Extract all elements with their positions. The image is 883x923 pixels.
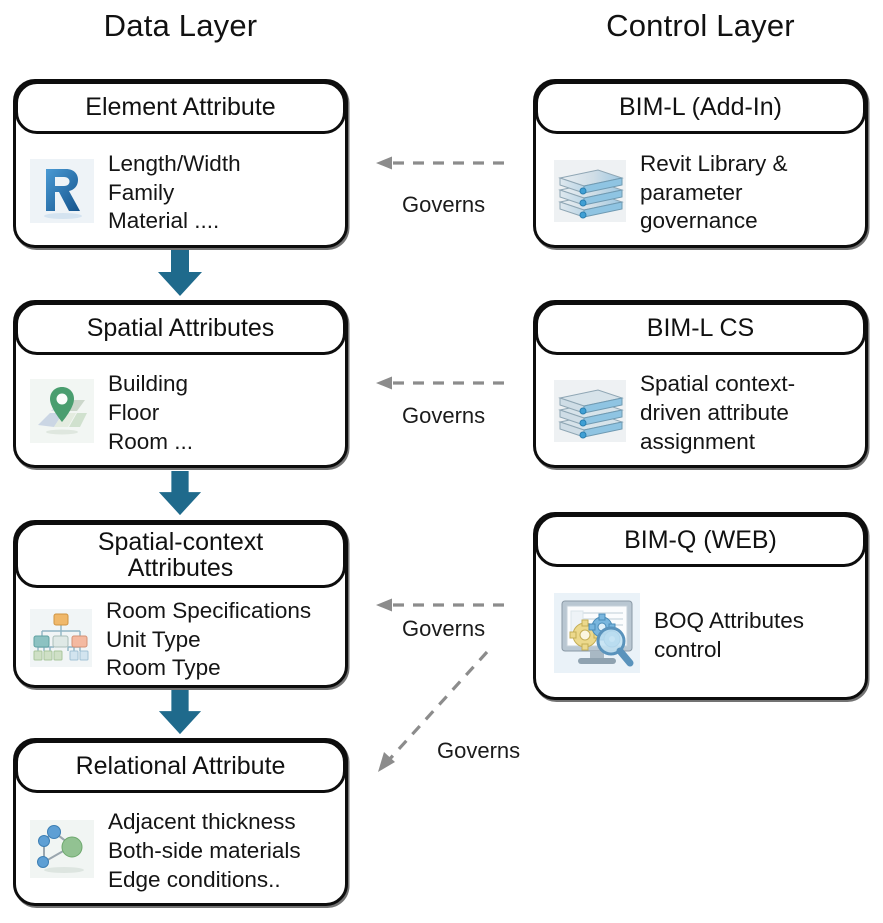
node-bim-l-cs-lines: Spatial context- driven attribute assign… <box>640 370 795 456</box>
diagram-canvas: Data Layer Control Layer Element Attribu… <box>0 0 883 923</box>
node-spatial-context-attributes-lines: Room Specifications Unit Type Room Type <box>106 597 311 683</box>
node-spatial-attributes-body: Building Floor Room ... <box>16 356 345 471</box>
node-bim-q-web[interactable]: BIM-Q (WEB) <box>533 512 868 700</box>
node-relational-attribute-lines: Adjacent thickness Both-side materials E… <box>108 808 301 894</box>
node-relational-attribute-body: Adjacent thickness Both-side materials E… <box>16 794 345 909</box>
node-spatial-context-attributes[interactable]: Spatial-context Attributes <box>13 520 348 688</box>
node-spatial-context-attributes-title: Spatial-context Attributes <box>15 522 346 588</box>
flow-arrow-2 <box>157 471 203 517</box>
node-relational-attribute[interactable]: Relational Attribute Adjacent thickness … <box>13 738 348 906</box>
map-pin-icon <box>30 379 94 448</box>
column-title-data-layer: Data Layer <box>13 10 348 41</box>
node-relational-attribute-title: Relational Attribute <box>15 740 346 793</box>
flow-arrow-1 <box>157 250 203 298</box>
node-bim-l-addin-title: BIM-L (Add-In) <box>535 81 866 134</box>
governs-arrow-1 <box>372 150 512 176</box>
node-element-attribute-lines: Length/Width Family Material .... <box>108 150 241 236</box>
governs-label-3: Governs <box>402 616 485 642</box>
node-bim-q-web-title: BIM-Q (WEB) <box>535 514 866 567</box>
revit-logo-icon <box>30 159 94 228</box>
governs-label-4: Governs <box>437 738 520 764</box>
node-bim-q-web-lines: BOQ Attributes control <box>654 607 804 665</box>
node-bim-l-addin-lines: Revit Library & parameter governance <box>640 150 788 236</box>
node-spatial-attributes[interactable]: Spatial Attributes Buildin <box>13 300 348 468</box>
governs-label-2: Governs <box>402 403 485 429</box>
column-title-control-layer: Control Layer <box>533 10 868 41</box>
node-spatial-attributes-title: Spatial Attributes <box>15 302 346 355</box>
node-element-attribute-body: Length/Width Family Material .... <box>16 135 345 251</box>
governs-arrow-2 <box>372 370 512 396</box>
node-bim-l-cs-body: Spatial context- driven attribute assign… <box>536 356 865 471</box>
monitor-gears-icon <box>554 593 640 678</box>
flow-arrow-3 <box>157 690 203 736</box>
hierarchy-tree-icon <box>30 609 92 672</box>
node-graph-icon <box>30 820 94 883</box>
governs-label-1: Governs <box>402 192 485 218</box>
node-spatial-context-attributes-body: Room Specifications Unit Type Room Type <box>16 589 345 691</box>
node-element-attribute[interactable]: Element Attribute Length/Width Family Ma… <box>13 79 348 248</box>
node-bim-l-addin-body: Revit Library & parameter governance <box>536 135 865 251</box>
governs-arrow-3 <box>372 592 512 618</box>
node-bim-l-addin[interactable]: BIM-L (Add-In) <box>533 79 868 248</box>
node-bim-l-cs-title: BIM-L CS <box>535 302 866 355</box>
database-server-icon <box>554 160 626 227</box>
node-bim-q-web-body: BOQ Attributes control <box>536 568 865 703</box>
database-server-icon <box>554 380 626 447</box>
node-spatial-attributes-lines: Building Floor Room ... <box>108 370 193 456</box>
node-bim-l-cs[interactable]: BIM-L CS <box>533 300 868 468</box>
node-element-attribute-title: Element Attribute <box>15 81 346 134</box>
